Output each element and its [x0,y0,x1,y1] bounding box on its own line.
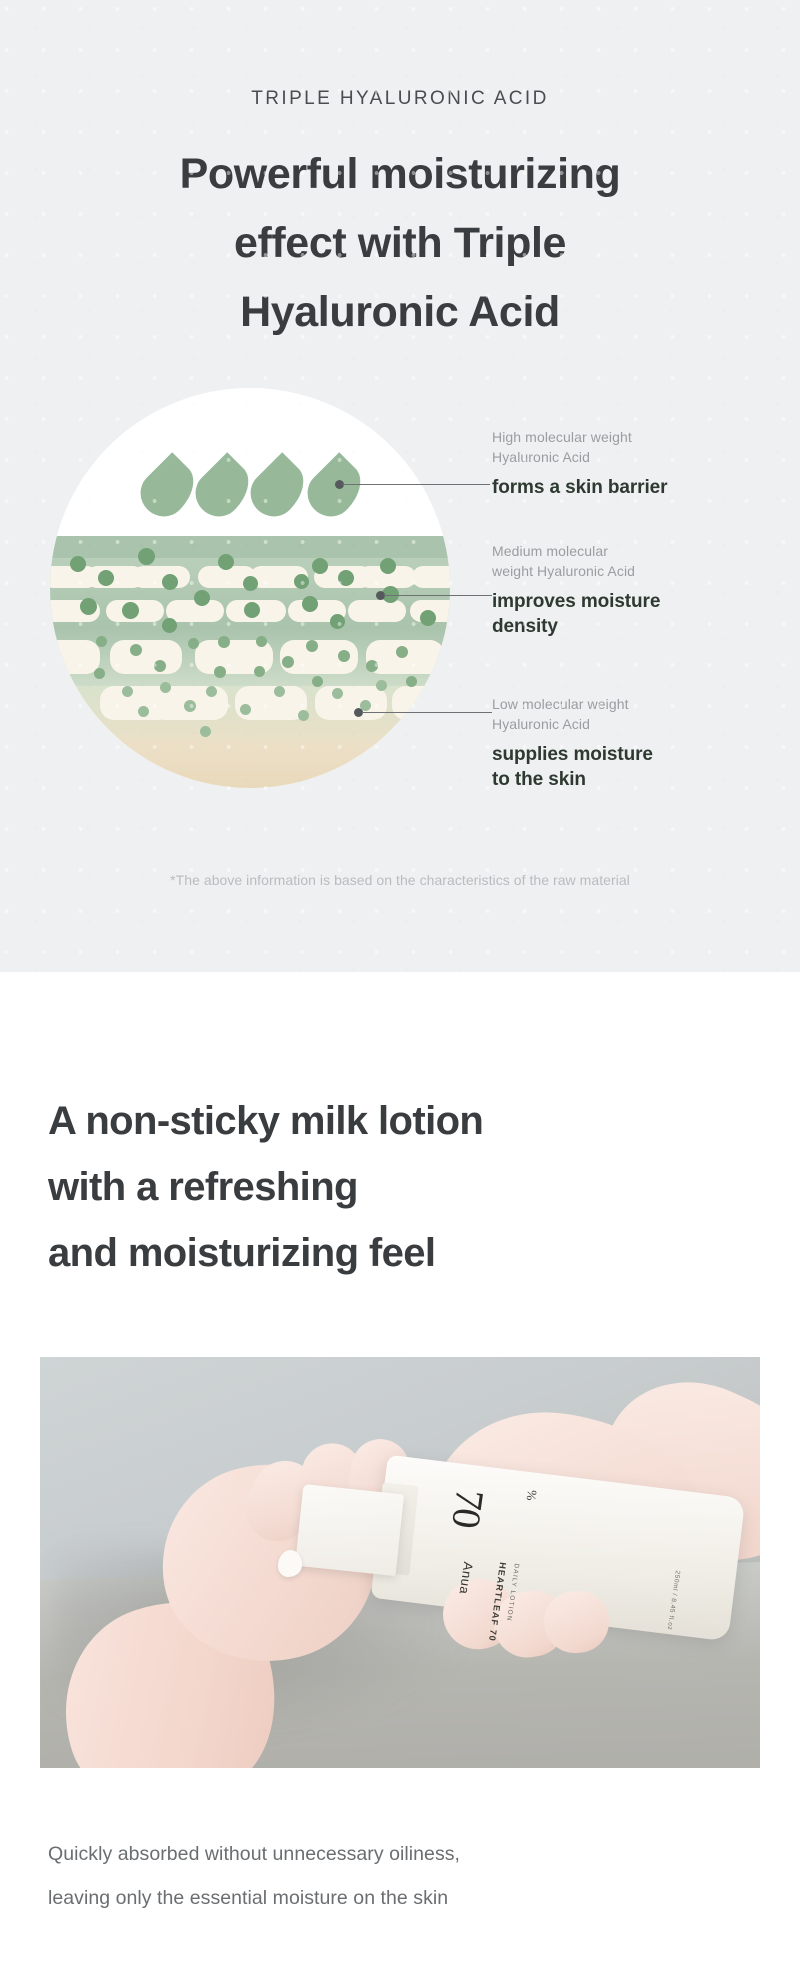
texture-title-line-2: with a refreshing [48,1154,748,1220]
annotation-highlight-line-2: to the skin [492,767,792,792]
hyaluronic-molecule-dot [96,636,107,647]
hyaluronic-molecule-dot [138,548,155,565]
skin-cell [392,686,450,720]
texture-title-line-3: and moisturizing feel [48,1220,748,1286]
hyaluronic-molecule-dot [420,610,436,626]
hero-title: Powerful moisturizing effect with Triple… [0,140,800,347]
hyaluronic-molecule-dot [70,556,86,572]
hyaluronic-molecule-dot [240,704,251,715]
hyaluronic-molecule-dot [154,660,166,672]
hyaluronic-molecule-dot [298,710,309,721]
annotation-subtitle-line-1: Medium molecular [492,542,792,562]
annotation-low-molecular-weight: Low molecular weight Hyaluronic Acid sup… [492,695,792,792]
hyaluronic-molecule-dot [160,682,171,693]
annotation-highlight-line-2: density [492,614,792,639]
hero-title-line-1: Powerful moisturizing [0,140,800,209]
skin-cell [166,600,224,622]
skin-cross-section-diagram [50,388,450,788]
skin-cell [412,566,450,588]
hyaluronic-molecule-dot [332,688,343,699]
leader-line-medium [384,595,492,596]
skin-cell [348,600,406,622]
layer-skin-barrier [50,536,450,558]
hero-title-line-3: Hyaluronic Acid [0,278,800,347]
hyaluronic-molecule-dot [312,676,323,687]
bottle-pump-nozzle [295,1483,404,1575]
hero-section: TRIPLE HYALURONIC ACID Powerful moisturi… [0,0,800,972]
hyaluronic-molecule-dot [218,554,234,570]
hyaluronic-molecule-dot [200,726,211,737]
hero-footnote: *The above information is based on the c… [0,872,800,888]
hyaluronic-molecule-dot [162,574,178,590]
layer-dermis-lower [50,748,450,788]
hyaluronic-molecule-dot [338,570,354,586]
hyaluronic-molecule-dot [330,614,345,629]
hyaluronic-molecule-dot [244,602,260,618]
hyaluronic-molecule-dot [306,640,318,652]
skin-cell [110,640,182,674]
annotation-subtitle-line-2: Hyaluronic Acid [492,715,792,735]
hyaluronic-molecule-dot [376,680,387,691]
hyaluronic-molecule-dot [214,666,226,678]
hyaluronic-molecule-dot [366,660,378,672]
hyaluronic-molecule-dot [98,570,114,586]
hyaluronic-molecule-dot [80,598,97,615]
skin-cell [50,640,100,674]
hyaluronic-molecule-dot [162,618,177,633]
annotation-highlight: forms a skin barrier [492,475,792,500]
hyaluronic-molecule-dot [256,636,267,647]
hyaluronic-molecule-dot [282,656,294,668]
hero-title-line-2: effect with Triple [0,209,800,278]
annotation-subtitle-line-2: Hyaluronic Acid [492,448,792,468]
hyaluronic-molecule-dot [274,686,285,697]
hyaluronic-molecule-dot [406,676,417,687]
annotation-subtitle-line-1: High molecular weight [492,428,792,448]
texture-caption-line-1: Quickly absorbed without unnecessary oil… [48,1832,748,1876]
texture-title: A non-sticky milk lotion with a refreshi… [48,1088,748,1286]
hyaluronic-molecule-dot [184,700,196,712]
hyaluronic-molecule-dot [122,686,133,697]
bottle-label-percent-unit: % [523,1488,540,1501]
hyaluronic-molecule-dot [94,668,105,679]
hyaluronic-molecule-dot [302,596,318,612]
texture-title-line-1: A non-sticky milk lotion [48,1088,748,1154]
leader-line-low [362,712,492,713]
lotion-droplet [278,1550,302,1577]
annotation-medium-molecular-weight: Medium molecular weight Hyaluronic Acid … [492,542,792,639]
layer-air [50,388,450,536]
annotation-highlight: supplies moisture to the skin [492,742,792,792]
diagram-circle [50,388,450,788]
hyaluronic-molecule-dot [243,576,258,591]
bottle-label-percent: 70 [442,1486,494,1530]
texture-caption-line-2: leaving only the essential moisture on t… [48,1876,748,1920]
hyaluronic-molecule-dot [138,706,149,717]
hyaluronic-molecule-dot [194,590,210,606]
skin-cell [315,686,387,720]
annotation-highlight: improves moisture density [492,589,792,639]
annotation-highlight-line-1: supplies moisture [492,742,792,767]
annotation-subtitle-line-1: Low molecular weight [492,695,792,715]
hyaluronic-molecule-dot [338,650,350,662]
hyaluronic-molecule-dot [188,638,199,649]
leader-line-high [342,484,490,485]
hero-eyebrow: TRIPLE HYALURONIC ACID [0,88,800,110]
annotation-high-molecular-weight: High molecular weight Hyaluronic Acid fo… [492,428,792,500]
hyaluronic-molecule-dot [122,602,139,619]
hyaluronic-molecule-dot [294,574,309,589]
hyaluronic-molecule-dot [130,644,142,656]
skin-cell [132,566,190,588]
annotation-highlight-line-1: improves moisture [492,589,792,614]
hyaluronic-molecule-dot [380,558,396,574]
hyaluronic-molecule-dot [206,686,217,697]
texture-caption: Quickly absorbed without unnecessary oil… [48,1832,748,1920]
hyaluronic-molecule-dot [396,646,408,658]
hyaluronic-molecule-dot [312,558,328,574]
hyaluronic-molecule-dot [254,666,265,677]
product-detail-page: TRIPLE HYALURONIC ACID Powerful moisturi… [0,0,800,1979]
hyaluronic-molecule-dot [218,636,230,648]
hands-dispensing-lotion-photo: 70 % Anua HEARTLEAF 70 DAILY LOTION 250m… [40,1357,760,1768]
annotation-subtitle-line-2: weight Hyaluronic Acid [492,562,792,582]
